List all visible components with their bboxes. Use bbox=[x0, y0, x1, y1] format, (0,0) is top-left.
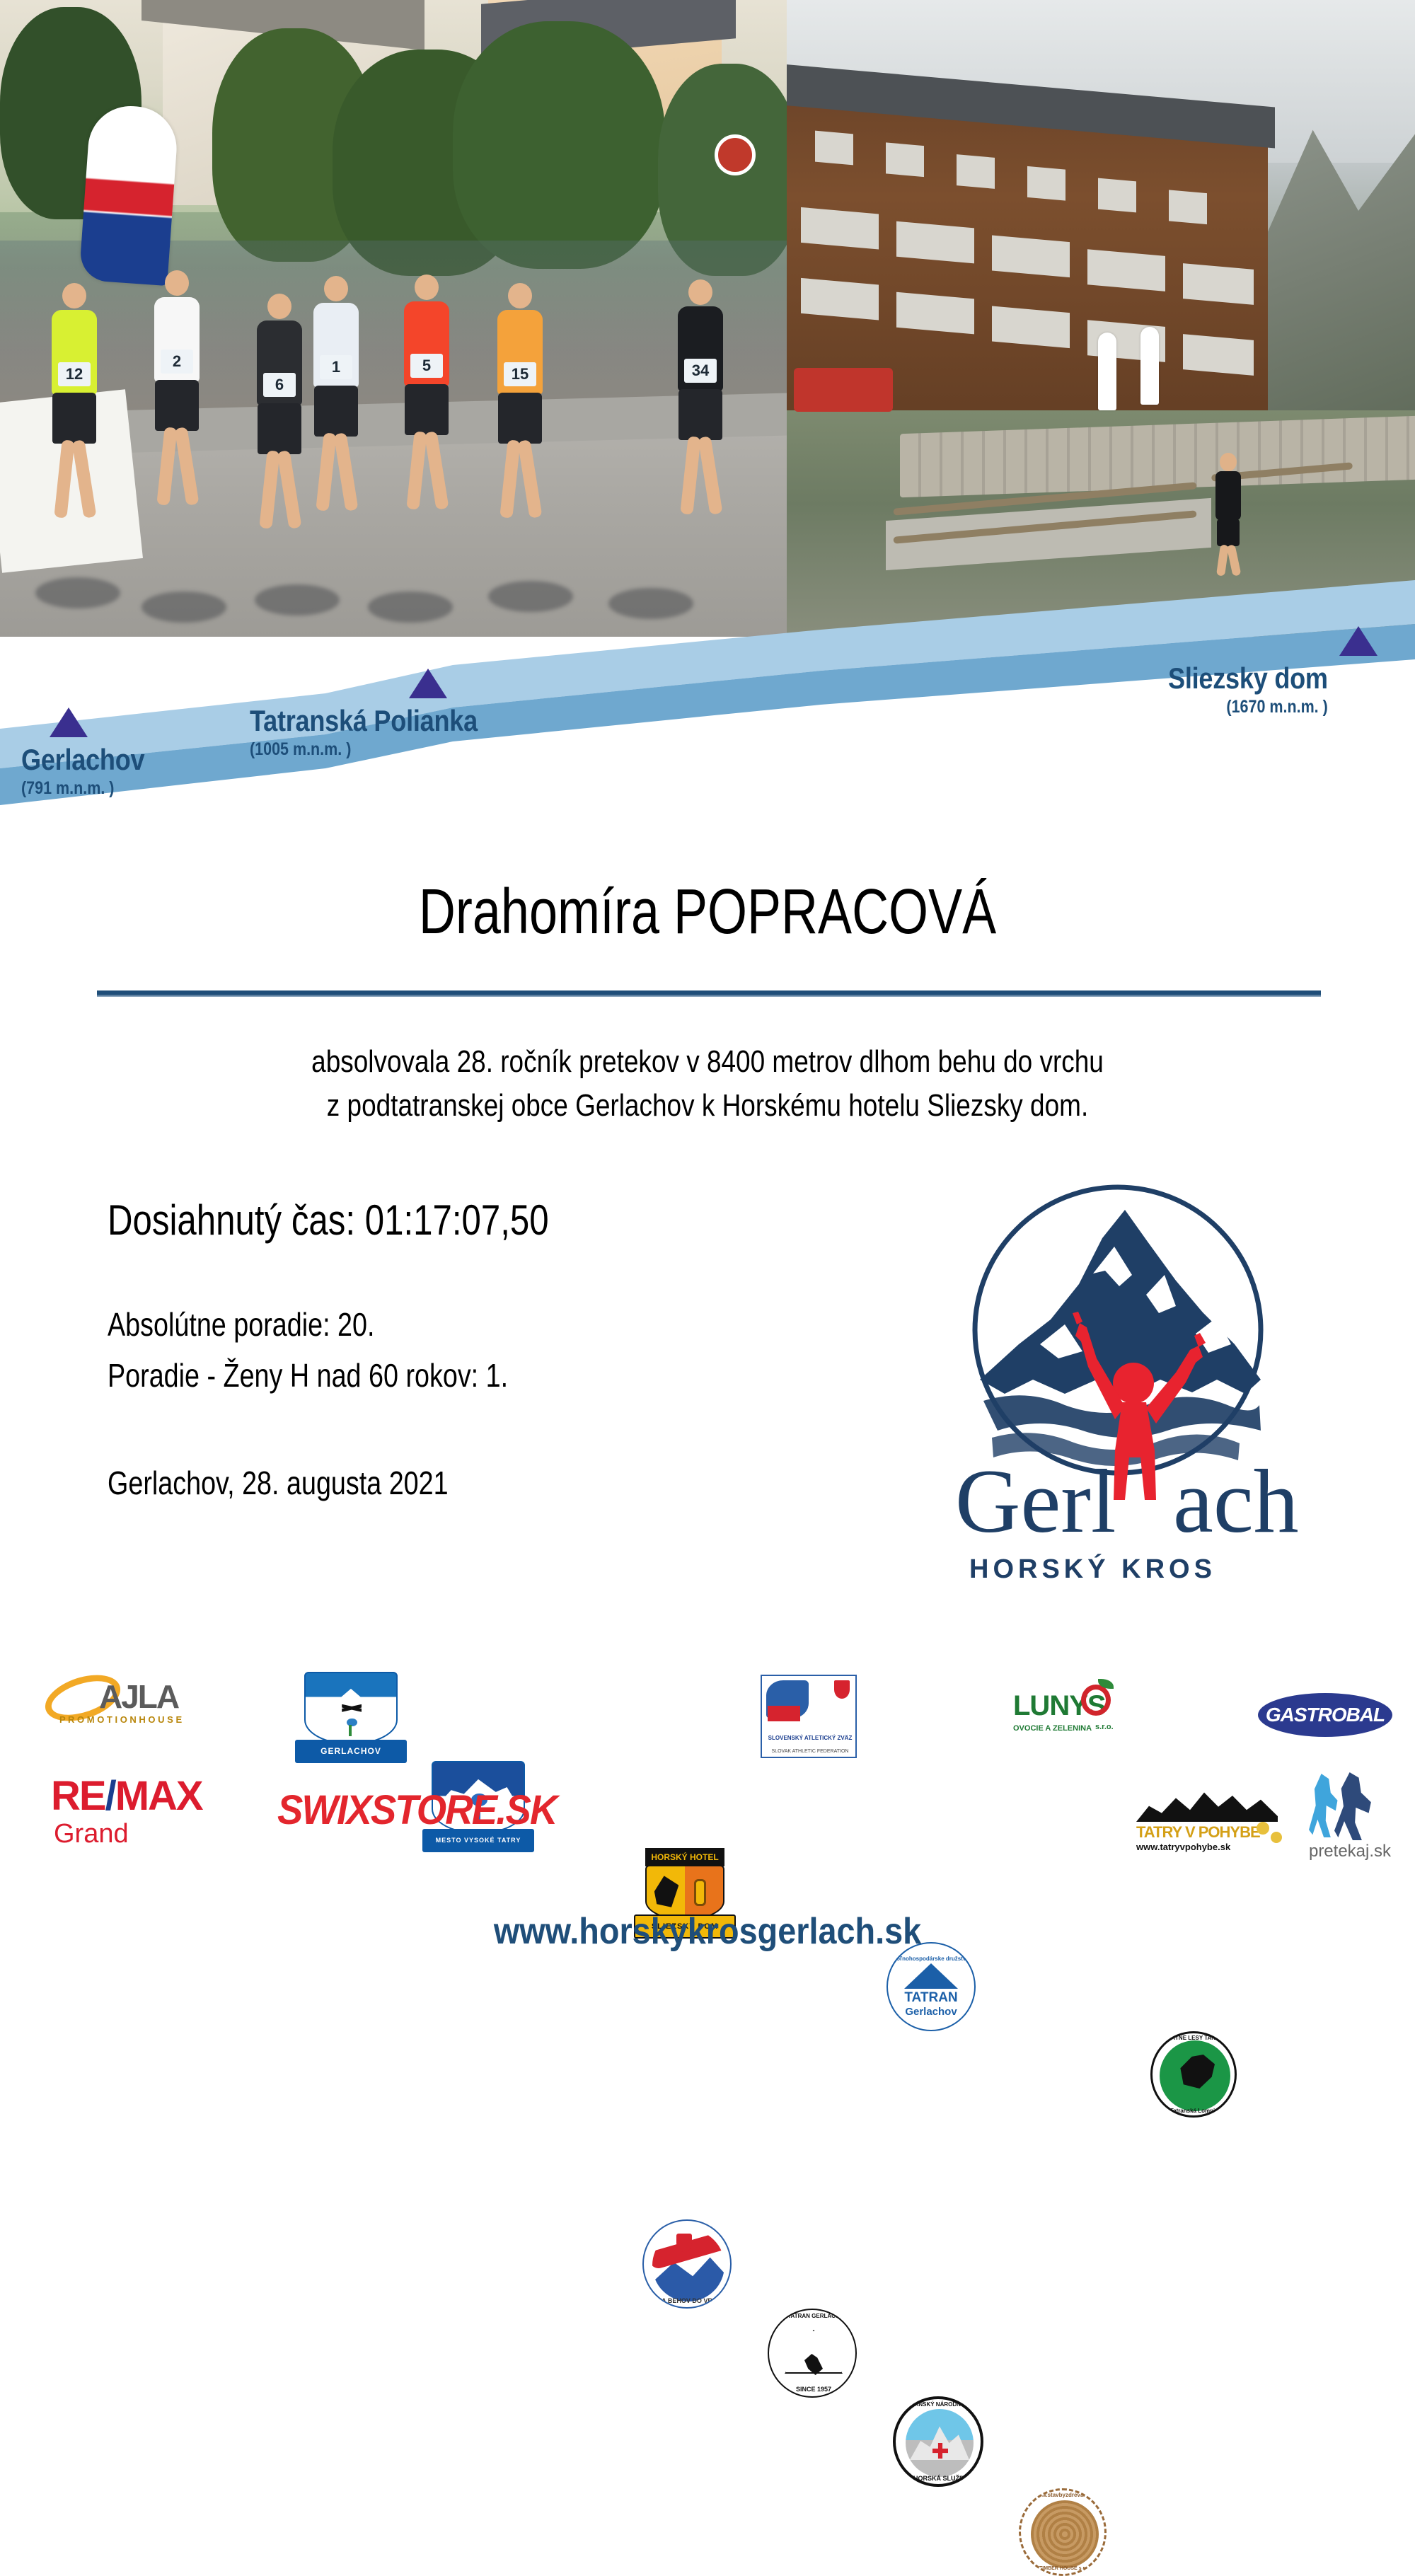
description-line-2: z podtatranskej obce Gerlachov k Horském… bbox=[113, 1084, 1302, 1128]
marker-altitude: (1005 m.n.m. ) bbox=[250, 739, 478, 760]
runner: 2 bbox=[152, 270, 202, 511]
logo-wordmark-tail: ach bbox=[1173, 1451, 1299, 1552]
elevation-profile: Gerlachov (791 m.n.m. ) Tatranská Polian… bbox=[0, 580, 1415, 835]
bib-number: 2 bbox=[161, 350, 193, 374]
marker-altitude: (791 m.n.m. ) bbox=[21, 778, 144, 799]
bib-number: 12 bbox=[58, 362, 91, 386]
bib-number: 5 bbox=[410, 354, 443, 378]
sponsor-strip: AJLA P R O M O T I O N H O U S E RE/MAX … bbox=[0, 1666, 1415, 1900]
bib-number: 1 bbox=[320, 355, 352, 379]
profile-marker-gerlachov: Gerlachov (791 m.n.m. ) bbox=[50, 707, 165, 799]
runner: 1 bbox=[311, 276, 361, 516]
sponsor-tvp-sub: www.tatryvpohybe.sk bbox=[1136, 1842, 1230, 1852]
logo-wordmark: Gerl bbox=[955, 1451, 1116, 1552]
sponsor-hs-sub: HORSKÁ SLUŽBA bbox=[896, 2475, 983, 2482]
achieved-time: Dosiahnutý čas: 01:17:07,50 bbox=[108, 1196, 746, 1244]
sponsor-tanap-name: ŠTÁTNE LESY TANAPU bbox=[1153, 2035, 1237, 2041]
sponsor-szd-name: www.stavbyzdreva.com bbox=[1021, 2492, 1107, 2498]
sponsor-pd-name: TATRAN bbox=[904, 1990, 957, 2006]
sponsor-lunys-sub: OVOCIE A ZELENINA bbox=[1013, 1724, 1092, 1733]
profile-marker-tatranska-polianka: Tatranská Polianka (1005 m.n.m. ) bbox=[409, 669, 514, 760]
sponsor-flag bbox=[1140, 327, 1159, 405]
sponsor-hs-name: TATRANSKÝ NÁRODNÝ PARK bbox=[896, 2401, 983, 2408]
results-block: Dosiahnutý čas: 01:17:07,50 Absolútne po… bbox=[108, 1196, 886, 1502]
divider bbox=[97, 990, 1321, 997]
sponsor-ajla-name: AJLA bbox=[99, 1677, 178, 1716]
runner: 34 bbox=[676, 279, 725, 520]
tree bbox=[453, 21, 665, 269]
sponsor-statne-lesy-tanapu: ŠTÁTNE LESY TANAPU Tatranská Lomnica bbox=[1150, 2031, 1237, 2118]
sponsor-saz-name: SLOVENSKÝ ATLETICKÝ ZVÄZ bbox=[763, 1735, 857, 1741]
sponsor-swixstore-name: SWIXSTORE.SK bbox=[277, 1786, 570, 1834]
sponsor-ajla-sub: P R O M O T I O N H O U S E bbox=[59, 1714, 182, 1725]
sponsor-tanap-sub: Tatranská Lomnica bbox=[1153, 2108, 1237, 2114]
bib-number: 15 bbox=[504, 362, 536, 386]
race-start-photo: 12 2 6 1 5 15 34 bbox=[0, 0, 787, 637]
sponsor-pretekaj: pretekaj.sk bbox=[1300, 1772, 1399, 1864]
athlete-name: Drahomíra POPRACOVÁ bbox=[141, 876, 1273, 949]
sponsor-gerlachov-crest: GERLACHOV bbox=[304, 1672, 398, 1761]
marker-altitude: (1670 m.n.m. ) bbox=[1127, 697, 1328, 717]
category-rank: Poradie - Ženy H nad 60 rokov: 1. bbox=[108, 1356, 746, 1394]
sponsor-swixstore: SWIXSTORE.SK bbox=[277, 1786, 589, 1836]
runner: 12 bbox=[50, 283, 99, 524]
runner: 15 bbox=[495, 283, 545, 524]
sliezsky-dom-photo bbox=[787, 0, 1415, 637]
rescue-van bbox=[794, 368, 893, 412]
sponsor-remax-sub: Grand bbox=[54, 1819, 129, 1849]
absolute-rank: Absolútne poradie: 20. bbox=[108, 1305, 746, 1344]
sponsor-pd-tatran: Poľnohospodárske družstvo TATRAN Gerlach… bbox=[886, 1942, 976, 2031]
sponsor-tatry-v-pohybe: TATRY V POHYBE www.tatryvpohybe.sk bbox=[1132, 1779, 1286, 1857]
sponsor-stavbyzdreva: www.stavbyzdreva.com TIMBER HOUSE s.r.o. bbox=[1019, 2488, 1107, 2576]
sponsor-saz-sub: SLOVAK ATHLETIC FEDERATION bbox=[763, 1749, 857, 1754]
sponsor-sliezsky-top: HORSKÝ HOTEL bbox=[651, 1852, 718, 1862]
sponsor-tj-name: TJ TATRAN GERLACHOV bbox=[769, 2313, 857, 2319]
place-and-date: Gerlachov, 28. augusta 2021 bbox=[108, 1464, 746, 1502]
marker-label: Gerlachov bbox=[21, 743, 144, 777]
triangle-marker-icon bbox=[409, 669, 447, 698]
marker-label: Tatranská Polianka bbox=[250, 704, 478, 738]
sponsor-lunys-suffix: s.r.o. bbox=[1095, 1723, 1114, 1731]
remax-beach-flag bbox=[79, 103, 179, 286]
sponsor-gastrobal-name: GASTROBAL bbox=[1266, 1704, 1385, 1726]
sponsor-szd-sub: TIMBER HOUSE s.r.o. bbox=[1021, 2566, 1107, 2571]
crest-band-label: GERLACHOV bbox=[295, 1740, 407, 1763]
sponsor-unia-name: ÚNIA BEHOV DO VRCHU bbox=[644, 2297, 732, 2304]
photo-banner: 12 2 6 1 5 15 34 bbox=[0, 0, 1415, 665]
bib-number: 6 bbox=[263, 373, 296, 397]
website-url[interactable]: www.horskykrosgerlach.sk bbox=[71, 1910, 1344, 1953]
sponsor-pretekaj-name: pretekaj.sk bbox=[1300, 1842, 1399, 1861]
sponsor-remax-name: RE/MAX bbox=[51, 1772, 202, 1820]
sponsor-ajla: AJLA P R O M O T I O N H O U S E bbox=[44, 1673, 249, 1737]
sponsor-pd-sub: Gerlachov bbox=[905, 2006, 957, 2018]
sponsor-tvp-name: TATRY V POHYBE bbox=[1136, 1823, 1260, 1842]
sponsor-lunys: LUNYS OVOCIE A ZELENINA s.r.o. bbox=[1013, 1682, 1126, 1752]
sponsor-tj-tatran-gerlachov: TJ TATRAN GERLACHOV SINCE 1957 bbox=[768, 2309, 857, 2398]
sponsor-flag bbox=[1098, 333, 1116, 410]
profile-marker-sliezsky-dom: Sliezsky dom (1670 m.n.m. ) bbox=[1339, 626, 1378, 717]
triangle-marker-icon bbox=[1339, 626, 1378, 656]
sponsor-gastrobal: GASTROBAL bbox=[1258, 1693, 1392, 1737]
sponsor-horska-sluzba: TATRANSKÝ NÁRODNÝ PARK HORSKÁ SLUŽBA bbox=[893, 2396, 983, 2487]
sponsor-tj-sub: SINCE 1957 bbox=[769, 2386, 857, 2393]
runner bbox=[1211, 453, 1244, 573]
sponsor-pd-top: Poľnohospodárske družstvo bbox=[893, 1956, 969, 1962]
gerlach-horsky-kros-logo: Gerl ach HORSKÝ KROS bbox=[913, 1167, 1316, 1606]
sponsor-remax: RE/MAX Grand bbox=[51, 1772, 249, 1850]
runner: 5 bbox=[402, 275, 451, 515]
runner: 6 bbox=[255, 294, 304, 534]
bib-number: 34 bbox=[684, 359, 717, 383]
stop-sign bbox=[715, 134, 756, 175]
sponsor-slovensky-atleticky-zvaz: SLOVENSKÝ ATLETICKÝ ZVÄZ SLOVAK ATHLETIC… bbox=[761, 1675, 857, 1758]
marker-label: Sliezsky dom bbox=[1127, 662, 1328, 695]
description-line-1: absolvovala 28. ročník pretekov v 8400 m… bbox=[113, 1040, 1302, 1084]
logo-tagline: HORSKÝ KROS bbox=[969, 1553, 1216, 1584]
triangle-marker-icon bbox=[50, 707, 88, 737]
crest-shield bbox=[304, 1672, 398, 1745]
sponsor-unia-behov: ÚNIA BEHOV DO VRCHU bbox=[642, 2219, 732, 2309]
